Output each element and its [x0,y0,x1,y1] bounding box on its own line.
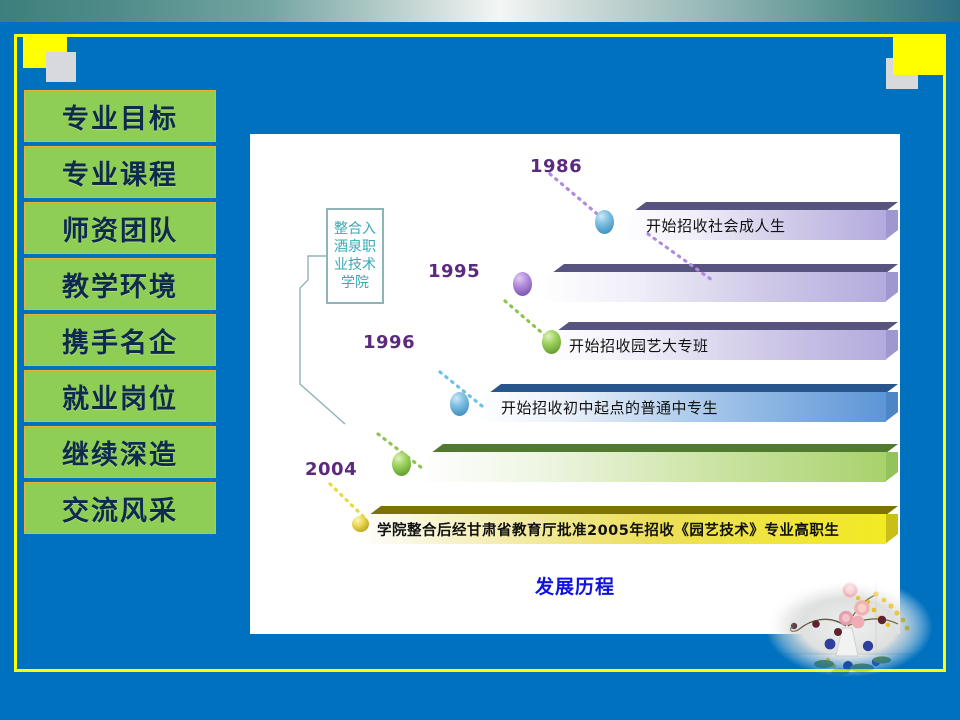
sidebar-item-label: 教学环境 [62,265,178,304]
sidebar-item-label: 继续深造 [62,433,178,472]
sidebar-item-label: 就业岗位 [62,377,178,416]
timeline-marker-purple-sphere-2[interactable] [513,272,532,296]
timeline-marker-green-sphere-3[interactable] [542,330,561,354]
timeline-marker-green-sphere-5[interactable] [392,452,411,476]
timeline-marker-blue-sphere-4[interactable] [450,392,469,416]
corner-deco-gray-top-left [46,52,76,82]
sidebar-item-label: 交流风采 [62,489,178,528]
top-gradient-strip [0,0,960,22]
sidebar-item-teaching-environment[interactable]: 教学环境 [24,258,216,310]
timeline-marker-yellow-sphere-6[interactable] [352,516,369,532]
sidebar-item-further-study[interactable]: 继续深造 [24,426,216,478]
year-label-1995: 1995 [428,261,480,282]
year-label-1996: 1996 [363,332,415,353]
slide-canvas: 专业目标 专业课程 师资团队 教学环境 携手名企 就业岗位 继续深造 交流风采 [0,0,960,720]
content-panel: 整合入酒泉职业技术学院 1986 1995 1996 2004 开始招收社会成人… [250,134,900,634]
sidebar-item-enterprise-partners[interactable]: 携手名企 [24,314,216,366]
year-label-1986: 1986 [530,156,582,177]
sidebar-item-employment-positions[interactable]: 就业岗位 [24,370,216,422]
year-label-2004: 2004 [305,459,357,480]
sidebar-item-major-goal[interactable]: 专业目标 [24,90,216,142]
sidebar-item-label: 专业课程 [62,153,178,192]
timeline-marker-blue-sphere-1[interactable] [595,210,614,234]
timeline-connector-lines [250,134,900,634]
sidebar-menu: 专业目标 专业课程 师资团队 教学环境 携手名企 就业岗位 继续深造 交流风采 [24,90,216,538]
development-timeline-diagram: 整合入酒泉职业技术学院 1986 1995 1996 2004 开始招收社会成人… [250,134,900,634]
corner-deco-yellow-top-right [893,36,943,75]
sidebar-item-major-courses[interactable]: 专业课程 [24,146,216,198]
sidebar-item-label: 携手名企 [62,321,178,360]
sidebar-item-label: 师资团队 [62,209,178,248]
sidebar-item-faculty-team[interactable]: 师资团队 [24,202,216,254]
sidebar-item-exchange-showcase[interactable]: 交流风采 [24,482,216,534]
sidebar-item-label: 专业目标 [62,97,178,136]
